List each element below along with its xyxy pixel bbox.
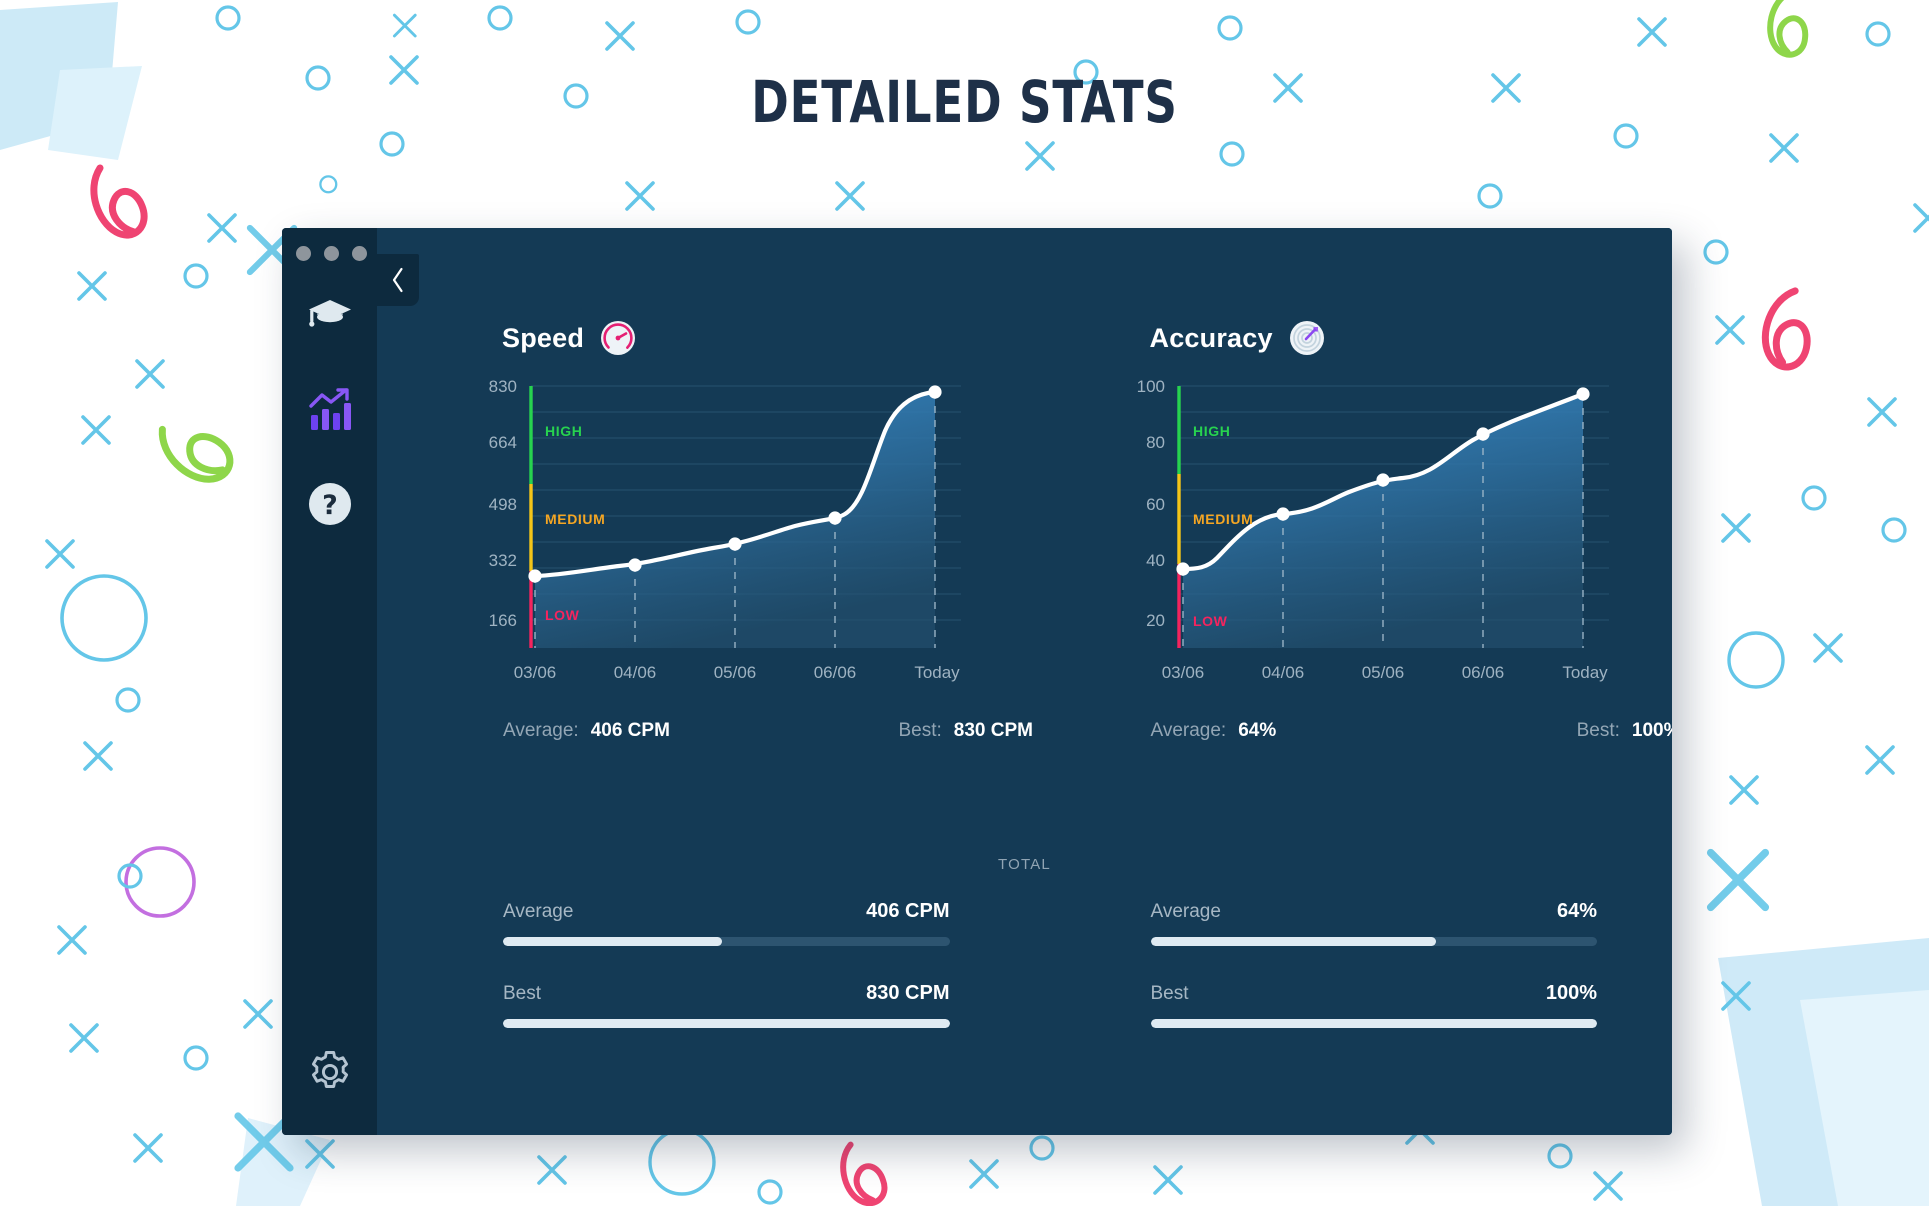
speed-meters: Average 406 CPM Best 830 CPM [377,900,1025,1064]
speed-average-label: Average: [503,720,579,742]
close-icon[interactable] [296,246,311,261]
sidebar-item-learn[interactable] [305,291,355,341]
minimize-icon[interactable] [324,246,339,261]
speed-best-progress-fill [503,1019,950,1028]
speed-xtick-3: 06/06 [814,663,857,682]
speed-summary-average: Average: 406 CPM [503,720,670,742]
accuracy-best-meter-label: Best [1151,983,1189,1005]
accuracy-zone-low: LOW [1193,613,1228,629]
sidebar: ? [282,228,377,1135]
speed-ytick-498: 498 [489,495,517,514]
accuracy-average-meter: Average 64% [1151,900,1598,946]
accuracy-best-progress-fill [1151,1019,1598,1028]
accuracy-xtick-1: 04/06 [1261,663,1304,682]
accuracy-ytick-20: 20 [1146,611,1165,630]
sidebar-item-statistics[interactable] [305,385,355,435]
speed-best-label: Best: [898,720,941,742]
page-title: DETAILED STATS [212,68,1717,136]
accuracy-xtick-0: 03/06 [1161,663,1204,682]
speed-average-progress-fill [503,937,722,946]
speed-zone-high: HIGH [545,423,582,439]
accuracy-best-progress[interactable] [1151,1019,1598,1028]
accuracy-ytick-80: 80 [1146,433,1165,452]
accuracy-average-label: Average: [1151,720,1227,742]
accuracy-summary: Average: 64% Best: 100% [1151,720,1673,742]
speed-xtick-4: Today [914,663,960,682]
speed-ytick-830: 830 [489,377,517,396]
sidebar-item-settings[interactable] [305,1047,355,1097]
accuracy-zone-high: HIGH [1193,423,1230,439]
accuracy-summary-best: Best: 100% [1577,720,1672,742]
speed-zone-medium: MEDIUM [545,511,605,527]
accuracy-average-progress[interactable] [1151,937,1598,946]
accuracy-chart-svg: 100 80 60 40 20 HIGH MEDIUM LOW 03 [1091,376,1673,706]
bar-chart-icon [307,388,353,432]
gear-icon [307,1049,353,1095]
speed-xtick-0: 03/06 [514,663,557,682]
speed-average-value: 406 CPM [591,720,670,742]
accuracy-best-meter: Best 100% [1151,982,1598,1028]
accuracy-ytick-40: 40 [1146,551,1165,570]
accuracy-xtick-3: 06/06 [1461,663,1504,682]
speed-average-meter-label: Average [503,901,573,923]
speed-best-meter-value: 830 CPM [866,982,949,1005]
accuracy-best-value: 100% [1632,720,1672,742]
speed-summary-best: Best: 830 CPM [898,720,1033,742]
speed-average-meter-value: 406 CPM [866,900,949,923]
speed-xtick-2: 05/06 [714,663,757,682]
accuracy-summary-average: Average: 64% [1151,720,1277,742]
window-traffic-lights [296,246,367,261]
accuracy-average-progress-fill [1151,937,1437,946]
question-mark-icon: ? [307,481,353,527]
accuracy-ytick-100: 100 [1136,377,1164,396]
accuracy-ytick-60: 60 [1146,495,1165,514]
speed-ytick-664: 664 [489,433,517,452]
speed-average-meter: Average 406 CPM [503,900,950,946]
sidebar-collapse-button[interactable] [377,254,419,306]
speed-chart: 830 664 498 332 166 HIGH MEDIUM LOW [443,376,1025,706]
accuracy-average-meter-value: 64% [1557,900,1597,923]
sidebar-nav: ? [305,291,355,529]
speed-average-progress[interactable] [503,937,950,946]
accuracy-average-meter-label: Average [1151,901,1221,923]
target-icon [1289,320,1325,356]
panel-accuracy: Accuracy [1025,228,1673,742]
panel-speed: Speed [377,228,1025,742]
speed-ytick-166: 166 [489,611,517,630]
speed-zone-low: LOW [545,607,580,623]
accuracy-zone-medium: MEDIUM [1193,511,1253,527]
accuracy-xtick-2: 05/06 [1361,663,1404,682]
speed-best-meter: Best 830 CPM [503,982,950,1028]
app-window: ? Speed [282,228,1672,1135]
graduation-cap-icon [307,296,353,336]
chevron-left-icon [390,267,406,293]
speed-best-progress[interactable] [503,1019,950,1028]
speed-ytick-332: 332 [489,551,517,570]
speed-xtick-1: 04/06 [614,663,657,682]
panel-speed-header: Speed [502,320,1025,356]
panel-speed-title: Speed [502,323,584,354]
speed-summary: Average: 406 CPM Best: 830 CPM [503,720,1033,742]
svg-text:?: ? [322,490,338,521]
accuracy-best-meter-value: 100% [1546,982,1597,1005]
panel-accuracy-title: Accuracy [1150,323,1273,354]
accuracy-meters: Average 64% Best 100% [1025,900,1673,1064]
panels-container: Speed [377,228,1672,742]
accuracy-xtick-4: Today [1562,663,1608,682]
accuracy-average-value: 64% [1238,720,1276,742]
accuracy-best-label: Best: [1577,720,1620,742]
panel-accuracy-header: Accuracy [1150,320,1673,356]
speedometer-icon [600,320,636,356]
main-content: Speed [377,228,1672,1135]
speed-best-meter-label: Best [503,983,541,1005]
total-label: TOTAL [377,856,1672,873]
speed-chart-svg: 830 664 498 332 166 HIGH MEDIUM LOW [443,376,1043,706]
totals-meters: Average 406 CPM Best 830 CPM [377,900,1672,1064]
zoom-icon[interactable] [352,246,367,261]
accuracy-chart: 100 80 60 40 20 HIGH MEDIUM LOW 03 [1091,376,1673,706]
sidebar-item-help[interactable]: ? [305,479,355,529]
speed-best-value: 830 CPM [954,720,1033,742]
